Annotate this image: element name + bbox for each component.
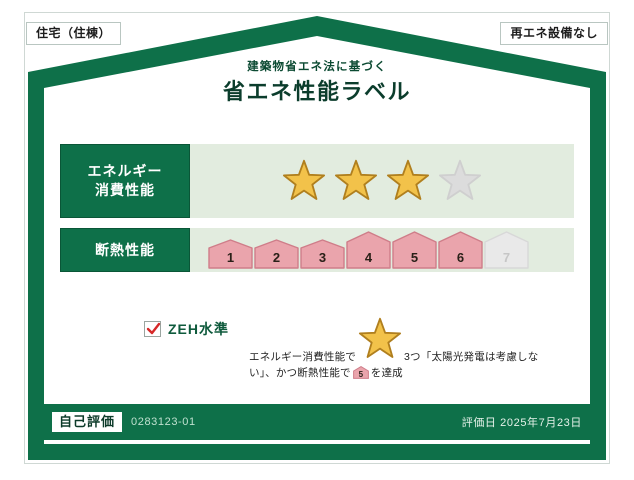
insulation-grade-2: 2 [254,231,299,269]
insulation-grade-5: 5 [392,231,437,269]
insulation-grade-3: 3 [300,231,345,269]
insulation-grade-4: 4 [346,231,391,269]
energy-label-line-2: 消費性能 [95,181,155,200]
page-title: 省エネ性能ラベル [0,81,634,103]
insulation-grade-value: 2 [254,251,299,264]
insulation-grade-value: 6 [438,251,483,264]
zeh-label: ZEH水準 [168,322,229,336]
insulation-grade-scale: 1234567 [208,231,529,269]
check-icon [146,322,161,336]
evaluation-date: 評価日 2025年7月23日 [462,414,582,430]
label-content-card: エネルギー 消費性能 断熱性能 1234567 ZEH水準 エネルギー消費性能で [44,128,590,400]
label-subtitle: 建築物省エネ法に基づく [0,62,634,74]
energy-performance-value-cell [190,144,574,218]
zeh-desc-text-1: エネルギー消費性能で [249,351,356,363]
energy-label-line-1: エネルギー [88,162,163,181]
insulation-performance-value-cell: 1234567 [190,228,574,272]
insulation-grade-7: 7 [484,231,529,269]
insulation-grade-value: 3 [300,251,345,264]
label-title-block: 建築物省エネ法に基づく 省エネ性能ラベル [0,62,634,103]
zeh-standard-block: ZEH水準 エネルギー消費性能で3つ「太陽光発電は考慮しない」、かつ断熱性能で5… [144,316,549,385]
star-icon-filled [385,158,431,204]
zeh-description: エネルギー消費性能で3つ「太陽光発電は考慮しない」、かつ断熱性能で5を達成 [249,316,549,385]
star-icon-filled [333,158,379,204]
evaluation-footer: 自己評価 0283123-01 評価日 2025年7月23日 [40,404,594,440]
energy-performance-label: 住宅（住棟） 再エネ設備なし 建築物省エネ法に基づく 省エネ性能ラベル エネルギ… [0,0,634,480]
insulation-grade-value: 7 [484,251,529,264]
star-rating [281,158,483,204]
insulation-grade-1: 1 [208,231,253,269]
evaluation-id: 0283123-01 [131,416,196,428]
energy-performance-label-cell: エネルギー 消費性能 [60,144,190,218]
star-icon-filled [281,158,327,204]
insulation-performance-label-cell: 断熱性能 [60,228,190,272]
house-grade-icon: 5 [353,366,369,384]
renewable-equipment-tag: 再エネ設備なし [500,22,608,45]
svg-text:5: 5 [358,370,363,379]
zeh-checkbox-group[interactable]: ZEH水準 [144,316,229,337]
energy-performance-row: エネルギー 消費性能 [60,144,574,218]
insulation-grade-6: 6 [438,231,483,269]
insulation-grade-value: 4 [346,251,391,264]
star-icon [357,316,403,362]
star-icon-empty [437,158,483,204]
evaluation-type-badge: 自己評価 [52,412,122,432]
zeh-desc-text-2: 3つ「太陽光発電 [404,351,485,363]
zeh-desc-text-4: を達成 [371,367,403,379]
insulation-grade-value: 1 [208,251,253,264]
zeh-checkbox[interactable] [144,321,161,337]
insulation-label-text: 断熱性能 [95,241,155,260]
building-type-tag: 住宅（住棟） [26,22,121,45]
insulation-performance-row: 断熱性能 1234567 [60,228,574,272]
insulation-grade-value: 5 [392,251,437,264]
